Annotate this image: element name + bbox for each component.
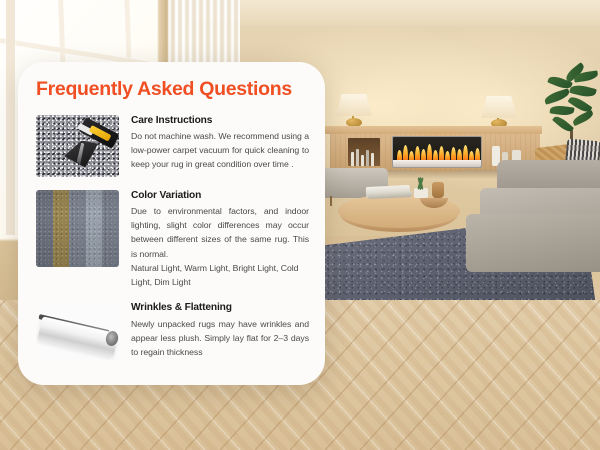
flames (395, 142, 481, 162)
faq-paragraph: Due to environmental factors, and indoor… (131, 204, 309, 260)
faq-paragraph: Newly unpacked rugs may have wrinkles an… (131, 317, 309, 359)
daybed-leg (330, 196, 332, 206)
faq-heading: Color Variation (131, 190, 309, 203)
linear-fireplace (392, 136, 482, 168)
faq-text-block: Wrinkles & Flattening Newly unpacked rug… (131, 302, 309, 360)
decor-jar (432, 182, 444, 198)
faq-item: Color Variation Due to environmental fac… (36, 190, 309, 289)
small-potted-plant (412, 176, 430, 198)
table-lamp-shade (336, 94, 372, 116)
faq-card: Frequently Asked Questions Care Instruct… (18, 62, 325, 385)
table-lamp-shade (481, 96, 517, 118)
faq-text-block: Color Variation Due to environmental fac… (131, 190, 309, 289)
screenshot-canvas: Frequently Asked Questions Care Instruct… (0, 0, 600, 450)
fireplace-embers (393, 160, 481, 167)
color-variation-swatches-photo (36, 190, 119, 267)
faq-item: Care Instructions Do not machine wash. W… (36, 115, 309, 177)
faq-heading: Wrinkles & Flattening (131, 302, 309, 315)
swatch-shading (36, 190, 119, 267)
window-frame (6, 0, 15, 235)
faq-paragraph: Do not machine wash. We recommend using … (131, 129, 309, 171)
niche-decor (350, 148, 378, 166)
faq-heading: Care Instructions (131, 115, 309, 128)
faq-item: Wrinkles & Flattening Newly unpacked rug… (36, 302, 309, 360)
carpet-cleaner-photo (36, 115, 119, 177)
sofa-chaise (466, 214, 600, 272)
page-title: Frequently Asked Questions (36, 80, 309, 100)
faq-paragraph-secondary: Natural Light, Warm Light, Bright Light,… (131, 261, 309, 289)
rolled-rug-photo (36, 302, 119, 360)
color-swatch-strips (36, 190, 119, 267)
faq-text-block: Care Instructions Do not machine wash. W… (131, 115, 309, 177)
